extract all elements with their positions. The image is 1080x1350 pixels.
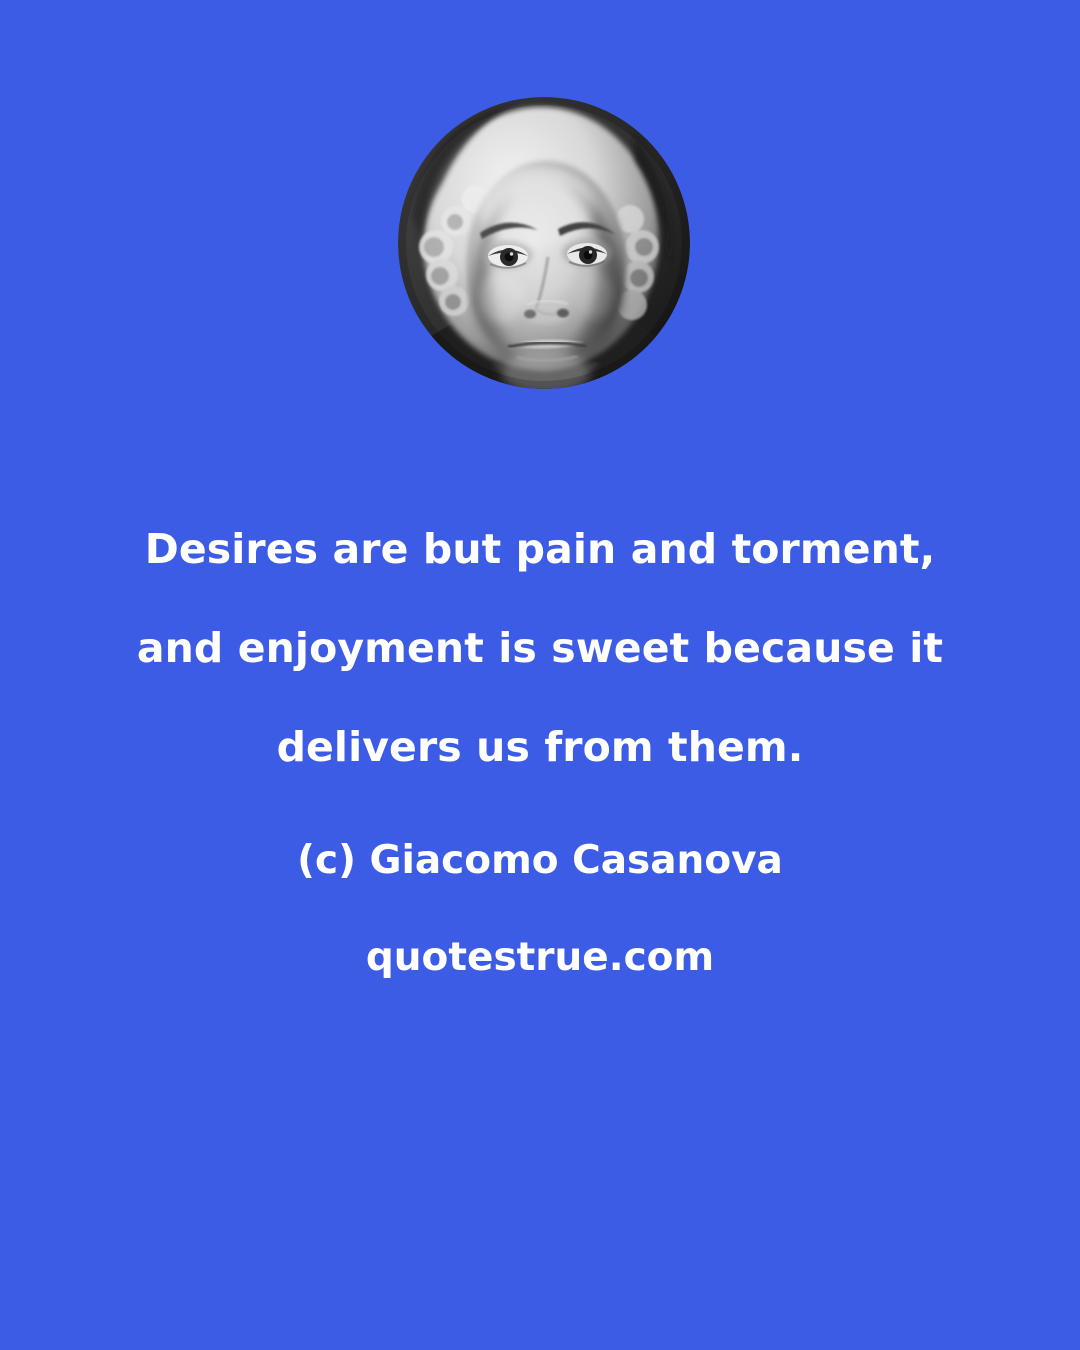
attribution-block: (c) Giacomo Casanova quotestrue.com <box>0 812 1080 1006</box>
author-portrait-avatar <box>398 97 690 389</box>
quote-line-3: delivers us from them. <box>0 698 1080 797</box>
quote-poster: Desires are but pain and torment, and en… <box>0 0 1080 1350</box>
casanova-portrait-illustration <box>398 97 690 389</box>
source-website[interactable]: quotestrue.com <box>0 909 1080 1006</box>
quote-author: (c) Giacomo Casanova <box>0 812 1080 909</box>
quote-text-block: Desires are but pain and torment, and en… <box>0 500 1080 797</box>
quote-line-2: and enjoyment is sweet because it <box>0 599 1080 698</box>
quote-line-1: Desires are but pain and torment, <box>0 500 1080 599</box>
